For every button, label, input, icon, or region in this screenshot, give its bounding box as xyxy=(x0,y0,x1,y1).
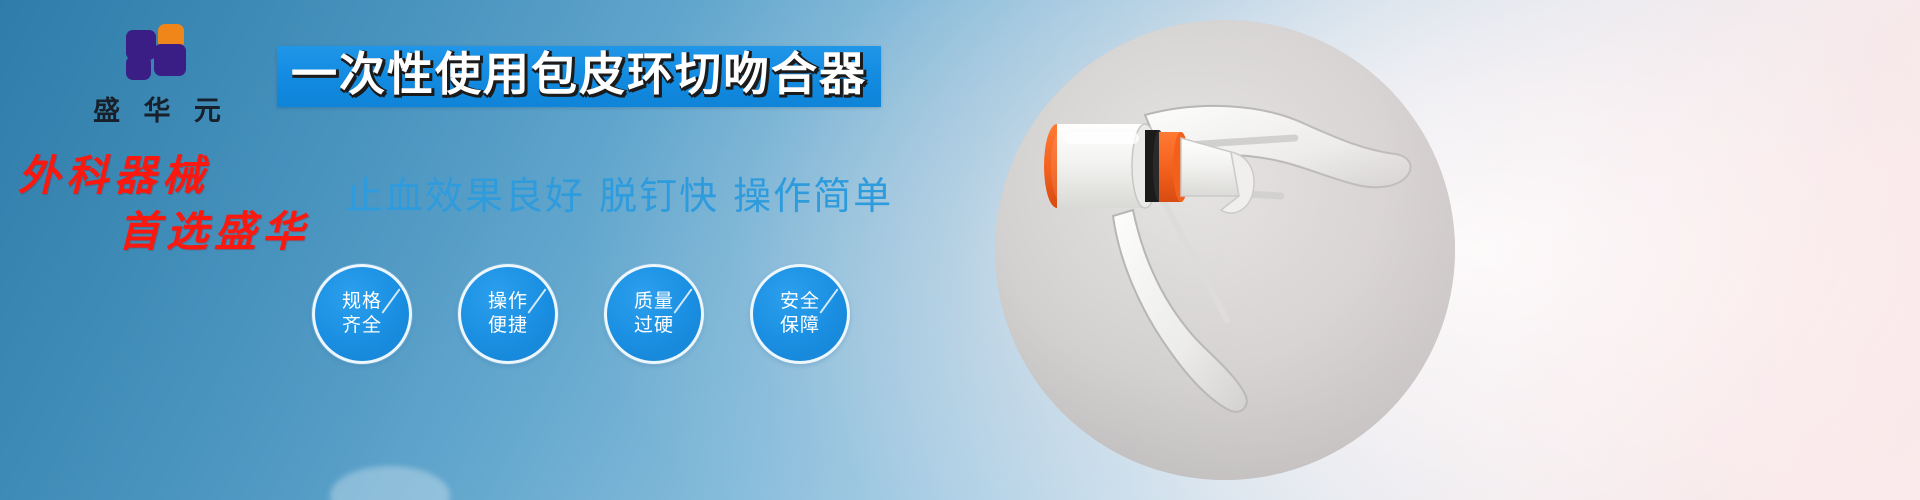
feature-badge-operation[interactable]: 操作 便捷 xyxy=(458,264,558,364)
product-image xyxy=(995,20,1455,480)
brand-logo[interactable]: 盛 华 元 xyxy=(62,24,252,128)
feature-badge-line-2: 便捷 xyxy=(488,314,528,338)
feature-badge-line-2: 保障 xyxy=(780,314,820,338)
subtitle: 止血效果良好 脱钉快 操作简单 xyxy=(345,165,893,220)
feature-badge-line-2: 齐全 xyxy=(342,314,382,338)
feature-badge-line-2: 过硬 xyxy=(634,314,674,338)
calligraphy-line-2: 首选盛华 xyxy=(118,202,310,262)
feature-badge-line-1: 安全 xyxy=(780,290,820,314)
promo-banner: 盛 华 元 外科器械 首选盛华 一次性使用包皮环切吻合器 止血效果良好 脱钉快 … xyxy=(0,0,1920,500)
shenghuayuan-logo-mark-icon xyxy=(126,24,188,82)
calligraphy-slogan: 外科器械 首选盛华 xyxy=(18,146,310,261)
feature-badge-list: 规格 齐全 操作 便捷 质量 过硬 安全 保障 xyxy=(312,264,850,364)
feature-badge-safety[interactable]: 安全 保障 xyxy=(750,264,850,364)
feature-badge-specification[interactable]: 规格 齐全 xyxy=(312,264,412,364)
calligraphy-line-1: 外科器械 xyxy=(18,151,210,200)
feature-badge-line-1: 质量 xyxy=(634,290,674,314)
feature-badge-quality[interactable]: 质量 过硬 xyxy=(604,264,704,364)
feature-badge-line-1: 操作 xyxy=(488,290,528,314)
company-name: 盛 华 元 xyxy=(62,89,252,128)
page-title: 一次性使用包皮环切吻合器 xyxy=(291,50,867,100)
product-title-bar: 一次性使用包皮环切吻合器 xyxy=(277,46,881,107)
decorative-watermark xyxy=(330,466,450,500)
feature-badge-line-1: 规格 xyxy=(342,290,382,314)
product-illustration-icon xyxy=(995,20,1455,480)
